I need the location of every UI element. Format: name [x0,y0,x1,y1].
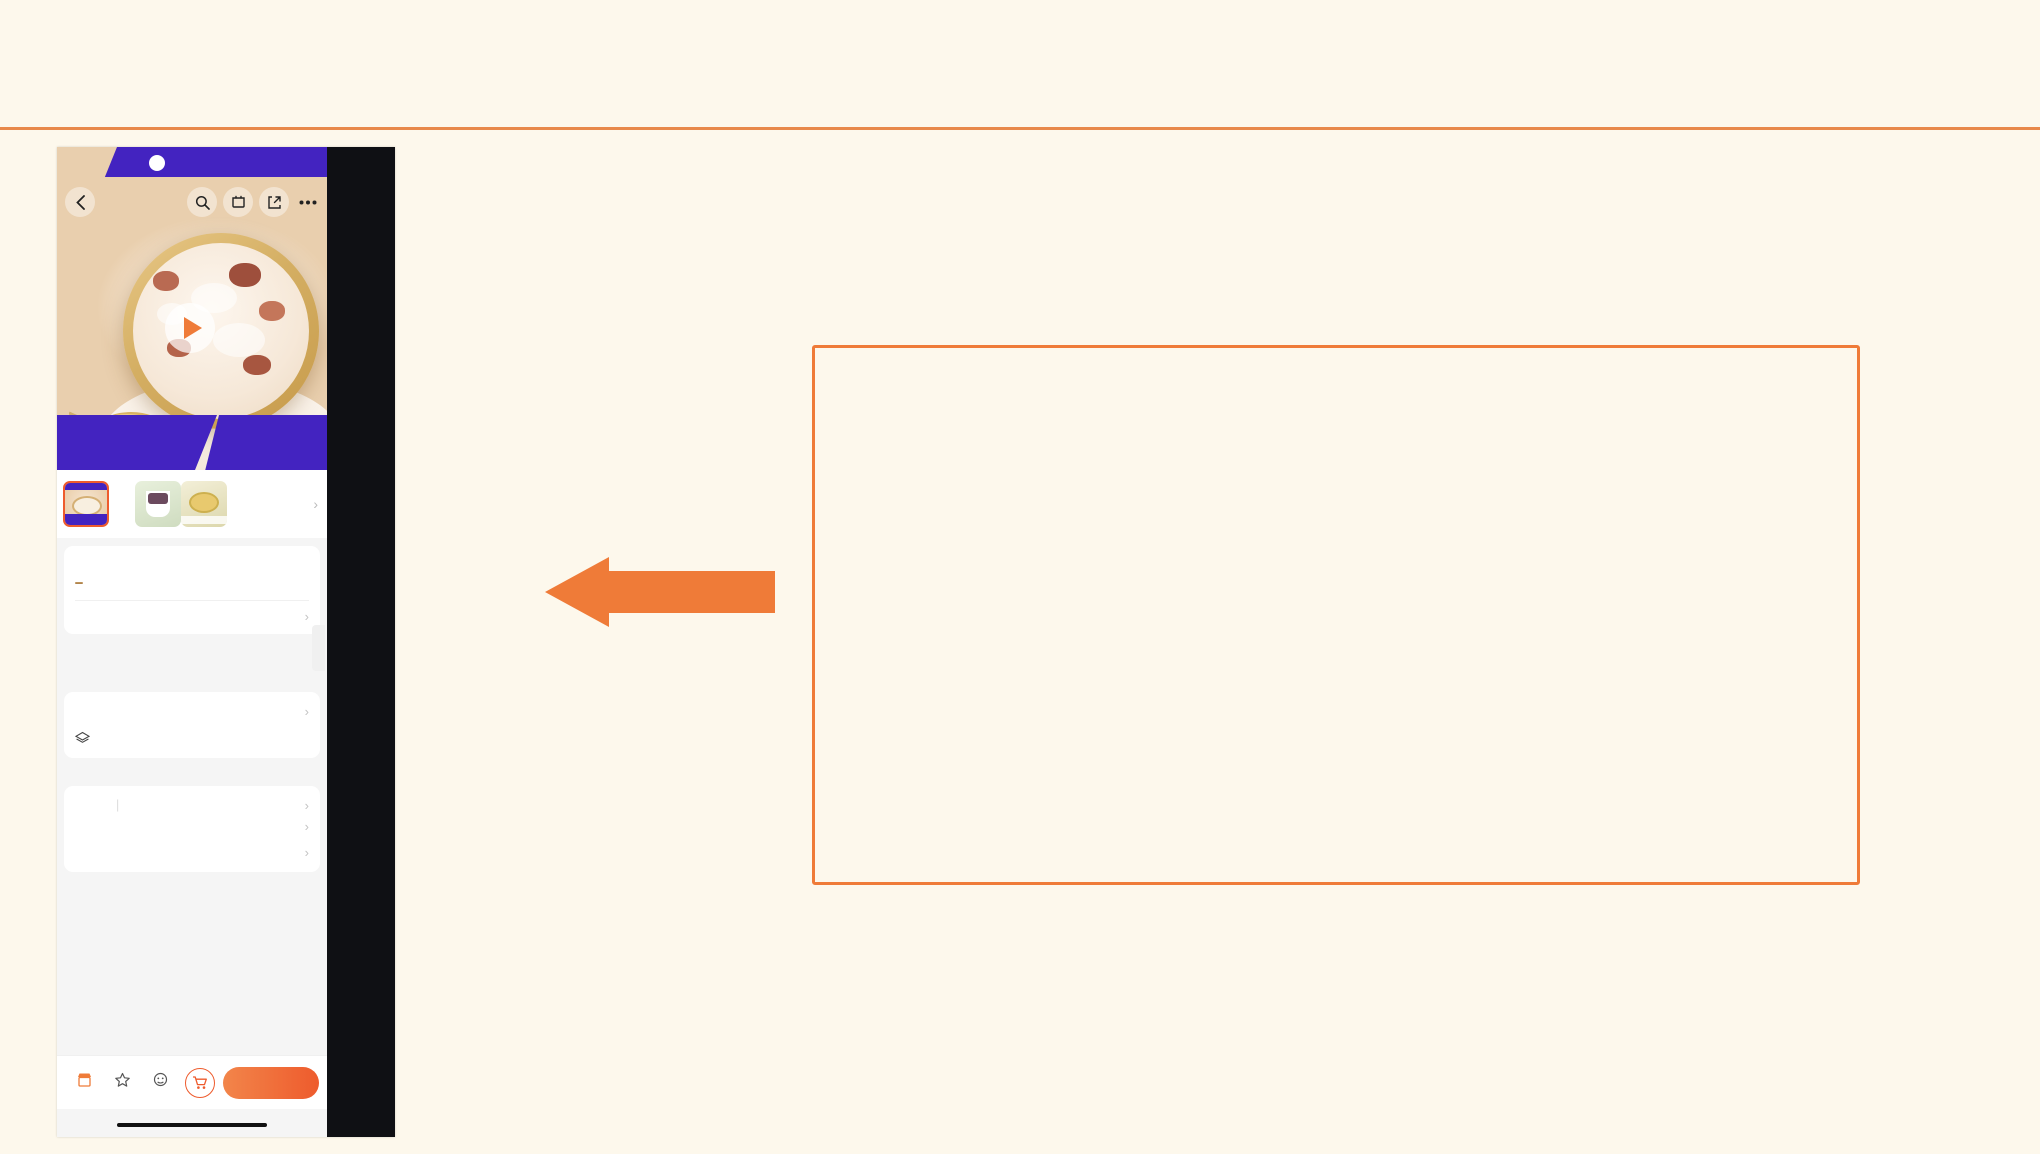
price-row [64,546,320,556]
food-chunk [243,355,271,375]
star-icon [114,1072,131,1088]
shop-icon [76,1072,93,1088]
style-thumb-3[interactable] [181,481,227,527]
decorative-dot-grid [62,32,157,108]
shipping-chevron-icon[interactable]: › [301,798,309,813]
add-to-cart-button[interactable] [185,1068,215,1098]
share-icon[interactable] [259,187,289,217]
credit-row[interactable]: › [64,601,320,634]
shipping-value: | [109,798,133,812]
cart-icon [192,1075,208,1090]
style-thumb-2[interactable] [135,481,181,527]
collapse-side-button[interactable] [312,625,325,671]
layers-icon [75,731,90,746]
back-icon[interactable] [65,187,95,217]
bottom-action-bar [57,1055,327,1109]
product-recommendation-rail[interactable] [327,147,395,1137]
credit-chevron-icon[interactable]: › [301,609,309,624]
shipping-service-card: | › › › [64,786,320,872]
store-treasure-badge [75,582,83,584]
soup-texture [213,323,265,357]
service-row[interactable]: › [64,834,320,872]
panel-spacer [845,382,1827,416]
brand-banner-text [149,152,173,174]
play-triangle-icon [184,317,202,339]
hero-nav-row [57,187,327,221]
customization-chevron-icon[interactable]: › [301,704,309,719]
panel-spacer-2 [845,416,1827,462]
bottom-item-service[interactable] [141,1072,179,1094]
food-chunk [153,271,179,291]
page-header [0,0,2040,130]
food-chunk [229,263,261,287]
food-chunk [259,301,285,321]
phone-screenshot: › › [57,147,395,1137]
brand-banner [105,147,327,177]
shipping-eta-row[interactable]: › [64,813,320,834]
home-indicator [117,1123,267,1127]
price-info-card: › [64,546,320,634]
style-selector-row[interactable]: › [57,470,327,538]
cart-icon[interactable] [223,187,253,217]
hero-banner-right [205,415,327,470]
customization-card: › [64,692,320,758]
style-thumb-selected[interactable] [63,481,109,527]
explanation-panel [812,345,1860,885]
bowl-inner [133,243,309,419]
buy-now-button[interactable] [223,1067,319,1099]
shipping-row[interactable]: | › [64,786,320,813]
product-title-line1[interactable] [64,563,320,591]
play-video-button[interactable] [165,303,215,353]
style-row-chevron-icon[interactable]: › [313,496,321,512]
hero-banner-left [57,415,217,470]
bottom-item-favorite[interactable] [103,1072,141,1094]
shipping-eta-chevron-icon[interactable]: › [301,819,309,834]
customization-row[interactable]: › [64,692,320,719]
phone-product-detail-page: › › [57,147,327,1137]
brand-logo-icon [149,155,165,171]
more-icon[interactable] [293,187,323,217]
bowl-shape [123,233,319,429]
shipping-separator: | [116,798,119,812]
headset-icon [152,1072,169,1088]
product-hero-image[interactable] [57,147,327,470]
service-chevron-icon[interactable]: › [301,845,309,860]
bottom-item-shop[interactable] [65,1072,103,1094]
pointer-arrow [545,557,775,627]
sticker-option-row[interactable] [64,719,320,758]
search-icon[interactable] [187,187,217,217]
promo-tag-row [64,556,320,563]
